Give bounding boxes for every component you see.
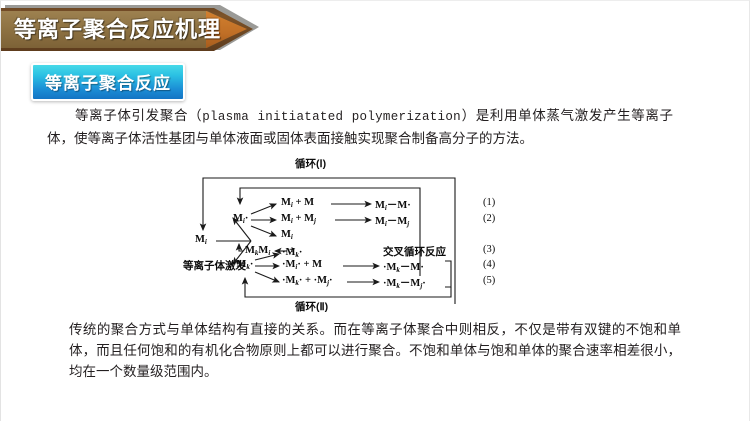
cycle-two-label: 循环(Ⅱ) <box>295 299 328 314</box>
intro-paragraph: 等离子体引发聚合（plasma initiatated polymerizati… <box>47 105 673 149</box>
reaction-mechanism-diagram: 循环(Ⅰ) Mi 等离子体激发 Mi· ·Mk· Mi + M Mi－M· (1… <box>183 156 513 311</box>
row-4-number: (4) <box>483 259 495 270</box>
row-5-right-term: ·Mk－Mj· <box>383 275 426 290</box>
header-banner: 等离子聚合反应机理 <box>1 5 259 50</box>
cross-cycle-label: 交叉循环反应 <box>383 244 446 259</box>
row-5-number: (5) <box>483 275 495 286</box>
cycle-one-label: 循环(Ⅰ) <box>295 156 326 171</box>
row-5-left-term: ·Mk· + ·Mj· <box>282 275 333 287</box>
row-3-left-term: Mi <box>281 229 293 241</box>
branch-upper-label: Mi· <box>233 213 248 225</box>
row-1-number: (1) <box>483 197 495 208</box>
stub-upper-mk-label: ·Mk· <box>282 247 302 259</box>
intro-term-english: plasma initiatated polymerization <box>202 110 461 124</box>
row-2-left-term: Mi + Mj <box>281 213 316 225</box>
row-2-number: (2) <box>483 213 495 224</box>
intro-text-lead: 等离子体引发聚合（ <box>75 108 202 123</box>
row-4-left-term: ·Mi· + M <box>282 259 322 271</box>
conclusion-paragraph: 传统的聚合方式与单体结构有直接的关系。而在等离子体聚合中则相反，不仅是带有双键的… <box>69 319 681 382</box>
source-species-label: Mi <box>195 234 207 246</box>
row-1-right-term: Mi－M· <box>375 197 411 212</box>
section-subheading: 等离子聚合反应 <box>31 63 185 101</box>
recombination-term: MkMi <box>245 245 270 257</box>
page-title: 等离子聚合反应机理 <box>14 13 214 46</box>
row-2-right-term: Mi－Mj <box>375 213 409 228</box>
diagram-lines <box>183 156 513 311</box>
row-1-left-term: Mi + M <box>281 197 314 209</box>
branch-lower-label: ·Mk· <box>233 259 253 271</box>
row-3-number: (3) <box>483 244 495 255</box>
row-4-right-term: ·Mk－M· <box>383 259 424 274</box>
slide-canvas: 等离子聚合反应机理 等离子聚合反应 等离子体引发聚合（plasma initia… <box>0 0 750 421</box>
